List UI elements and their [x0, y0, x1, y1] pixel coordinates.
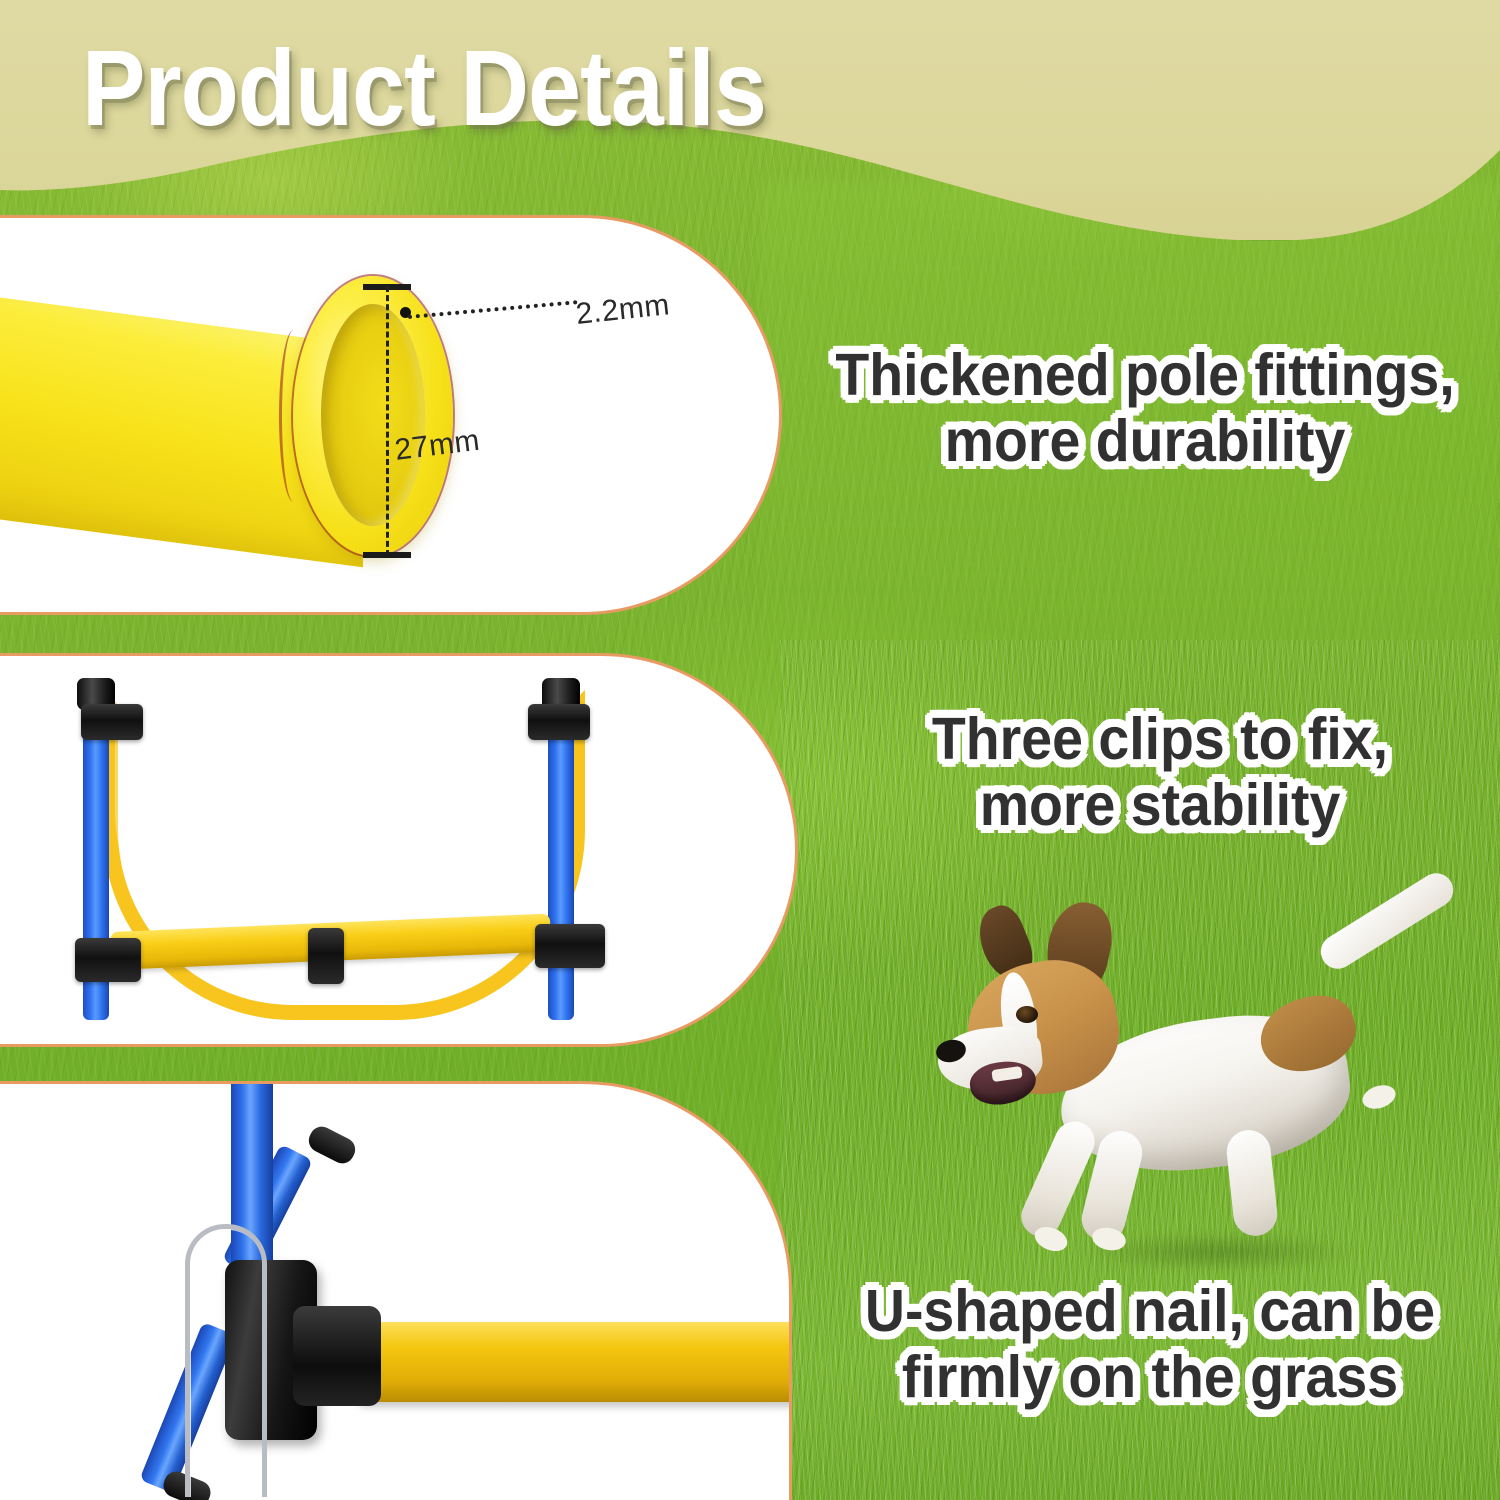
clip-top-right [528, 704, 590, 740]
dog-photo [930, 880, 1490, 1300]
panel-base-connector [0, 1081, 792, 1500]
yellow-crossbar-base [359, 1322, 792, 1402]
dimension-line-vertical [386, 286, 389, 556]
caption-thickened-pole-fittings: Thickened pole fittings, more durability [821, 342, 1470, 474]
clip-bottom-right [535, 924, 605, 968]
black-tee-arm [293, 1306, 381, 1406]
u-shaped-nail-icon [185, 1224, 267, 1497]
dimension-tick-bottom [363, 552, 411, 558]
tube-seam-line [279, 330, 308, 502]
hurdle-illustration [0, 656, 795, 1044]
base-connector-illustration [0, 1084, 789, 1500]
dimension-label-wall-thickness: 2.2mm [574, 288, 671, 332]
panel-hurdle-assembly [0, 653, 798, 1047]
leader-line-dotted [408, 300, 578, 319]
clip-middle [308, 928, 344, 984]
clip-top-left [81, 704, 143, 740]
leg-cap-top [305, 1123, 360, 1168]
caption-u-shaped-nail: U-shaped nail, can be firmly on the gras… [840, 1278, 1460, 1410]
clip-bottom-left [75, 938, 141, 982]
dog-tail [1314, 867, 1459, 975]
dog-eye [1016, 1006, 1038, 1023]
page-title: Product Details [82, 34, 766, 142]
tube-inner-bore [321, 304, 425, 526]
product-details-infographic: Product Details 27mm 2.2mm [0, 0, 1500, 1500]
dog-paw-hind [1359, 1081, 1398, 1112]
panel-tube-cross-section: 27mm 2.2mm [0, 215, 782, 615]
caption-three-clips-to-fix: Three clips to fix, more stability [878, 706, 1442, 838]
